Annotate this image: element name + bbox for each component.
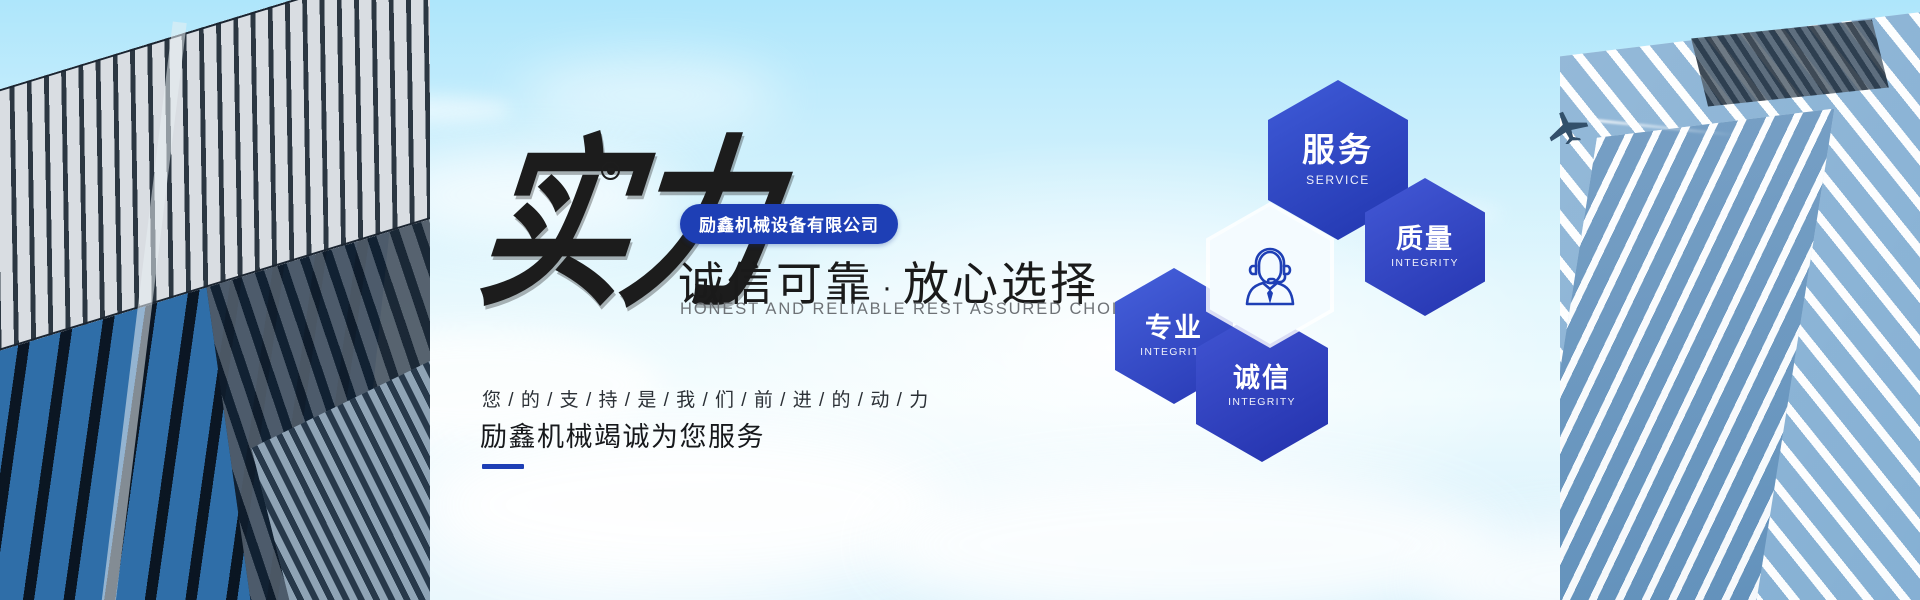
hex-integrity-cn: 诚信	[1233, 364, 1291, 392]
slogan-separator: ·	[874, 271, 903, 304]
hexagon-cluster: 服务 SERVICE 质量 INTEGRITY 专业 INTEGRITY 诚信 …	[1120, 80, 1540, 520]
copy-block: 实力 励鑫机械设备有限公司 诚信可靠·放心选择 HONEST AND RELIA…	[470, 0, 1210, 600]
support-tagline: 您 / 的 / 支 / 持 / 是 / 我 / 们 / 前 / 进 / 的 / …	[482, 385, 929, 412]
seal-dot-icon	[601, 161, 620, 180]
hex-service-en: SERVICE	[1306, 173, 1370, 187]
accent-rule	[482, 464, 524, 469]
hex-quality-en: INTEGRITY	[1391, 257, 1459, 269]
promo-banner: 实力 励鑫机械设备有限公司 诚信可靠·放心选择 HONEST AND RELIA…	[0, 0, 1920, 600]
company-name-badge: 励鑫机械设备有限公司	[680, 204, 898, 244]
slogan-en: HONEST AND RELIABLE REST ASSURED CHOICE	[680, 300, 1145, 319]
service-tagline: 励鑫机械竭诚为您服务	[480, 415, 765, 454]
right-skyscraper-photo	[1560, 0, 1920, 600]
hex-professional-cn: 专业	[1145, 314, 1203, 342]
airplane-icon	[1545, 110, 1591, 144]
support-agent-icon	[1239, 242, 1301, 308]
hex-quality-cn: 质量	[1396, 225, 1454, 253]
left-skyscraper-photo	[0, 0, 430, 600]
hex-integrity-en: INTEGRITY	[1228, 396, 1296, 408]
hex-service-cn: 服务	[1302, 133, 1374, 168]
